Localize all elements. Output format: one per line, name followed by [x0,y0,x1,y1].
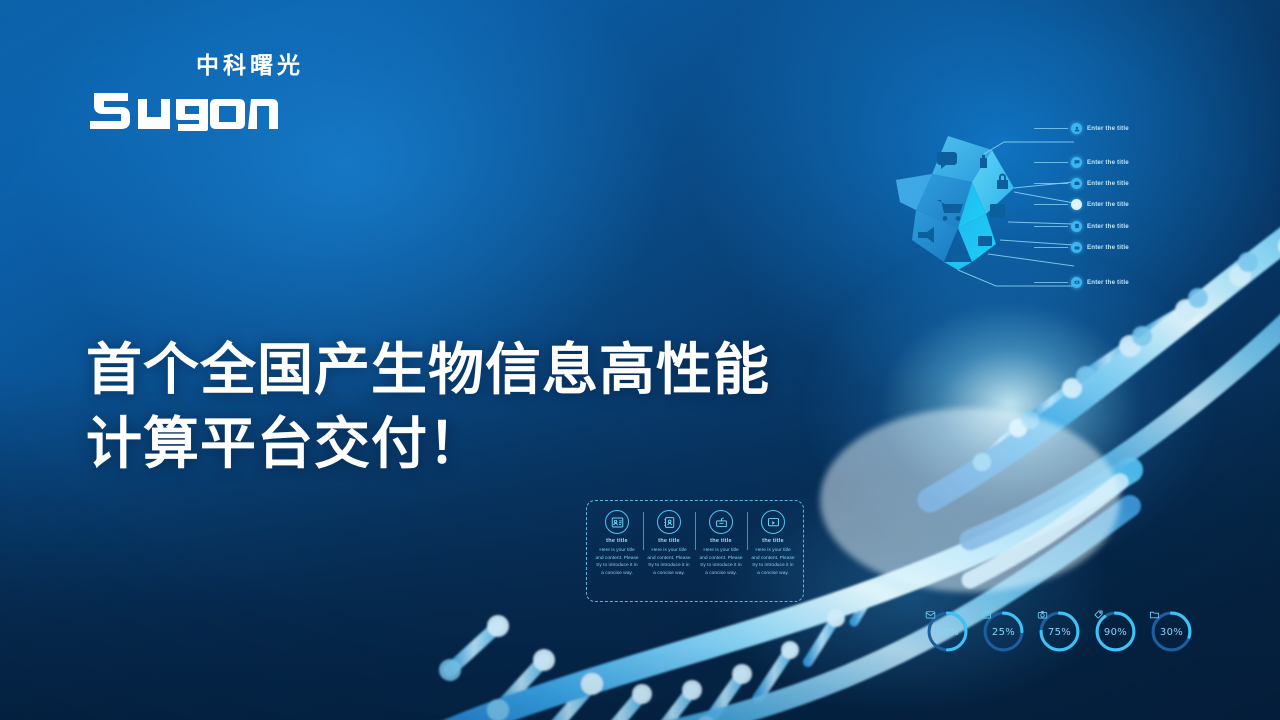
percentage-gauges: 50% 25% [925,609,1180,671]
gauge-30[interactable]: 30% [1149,609,1194,654]
legend-item[interactable]: Enter the title [1071,173,1191,194]
legend-item[interactable]: Enter the title [1071,151,1191,172]
card-title: the title [606,538,628,544]
feature-card[interactable]: the title Here is your title and content… [747,510,799,595]
page-title: 首个全国产生物信息高性能 计算平台交付！ [86,334,906,483]
legend-label: Enter the title [1087,279,1129,286]
legend-label: Enter the title [1087,201,1129,208]
briefcase-icon [1071,178,1082,189]
gauge-50[interactable]: 50% [925,609,970,654]
card-title: the title [658,538,680,544]
gauge-percent: 50% [936,627,959,638]
presentation-icon [709,510,733,534]
legend-label: Enter the title [1087,159,1129,166]
legend-leader-line [1034,204,1068,205]
card-body: Here is your title and content. Please t… [699,547,743,577]
gauge-percent: 25% [992,627,1015,638]
polyhedron-infographic: Enter the title Enter the title Enter th… [886,118,1156,288]
contact-book-icon [657,510,681,534]
legend-item[interactable]: Enter the title [1071,237,1191,258]
gauge-90[interactable]: 90% [1093,609,1138,654]
card-body: Here is your title and content. Please t… [647,547,691,577]
page-title-line-1: 首个全国产生物信息高性能 [86,334,906,408]
camera-icon [1071,277,1082,288]
gauge-percent: 75% [1048,627,1071,638]
feature-cards-panel: the title Here is your title and content… [586,500,804,602]
legend-item[interactable]: Enter the title [1071,118,1191,139]
feature-card[interactable]: the title Here is your title and content… [643,510,695,595]
blank-icon [1071,199,1082,210]
card-title: the title [710,538,732,544]
sugon-logo: 中科曙光 [88,55,308,131]
logo-chinese-name: 中科曙光 [88,55,308,78]
banner-slide: 中科曙光 首个全国产生物信息高性能 计算平台交付！ [0,0,1280,720]
document-icon [1071,221,1082,232]
feature-card[interactable]: the title Here is your title and content… [591,510,643,595]
gauge-25[interactable]: 25% [981,609,1026,654]
legend-item[interactable]: Enter the title [1071,271,1191,292]
id-card-icon [605,510,629,534]
legend-leader-line [1034,162,1068,163]
legend-label: Enter the title [1087,180,1129,187]
legend-leader-line [1034,247,1068,248]
card-title: the title [762,538,784,544]
polyhedron-graphic [886,128,1076,288]
mail-icon [1071,242,1082,253]
gauge-percent: 30% [1160,627,1183,638]
legend-leader-line [1034,282,1068,283]
legend-label: Enter the title [1087,244,1129,251]
polyhedron-legend: Enter the title Enter the title Enter th… [1071,118,1191,293]
card-body: Here is your title and content. Please t… [751,547,795,577]
page-title-line-2: 计算平台交付！ [86,408,906,482]
legend-leader-line [1034,183,1068,184]
legend-leader-line [1034,226,1068,227]
card-body: Here is your title and content. Please t… [595,547,639,577]
logo-wordmark-sugon [88,83,278,131]
feature-card[interactable]: the title Here is your title and content… [695,510,747,595]
legend-leader-line [1034,128,1068,129]
monitor-icon [761,510,785,534]
gauge-75[interactable]: 75% [1037,609,1082,654]
legend-label: Enter the title [1087,125,1129,132]
legend-item[interactable]: Enter the title [1071,216,1191,237]
legend-label: Enter the title [1087,223,1129,230]
legend-item[interactable]: Enter the title [1071,194,1191,215]
person-icon [1071,123,1082,134]
gauge-percent: 90% [1104,627,1127,638]
chat-icon [1071,157,1082,168]
